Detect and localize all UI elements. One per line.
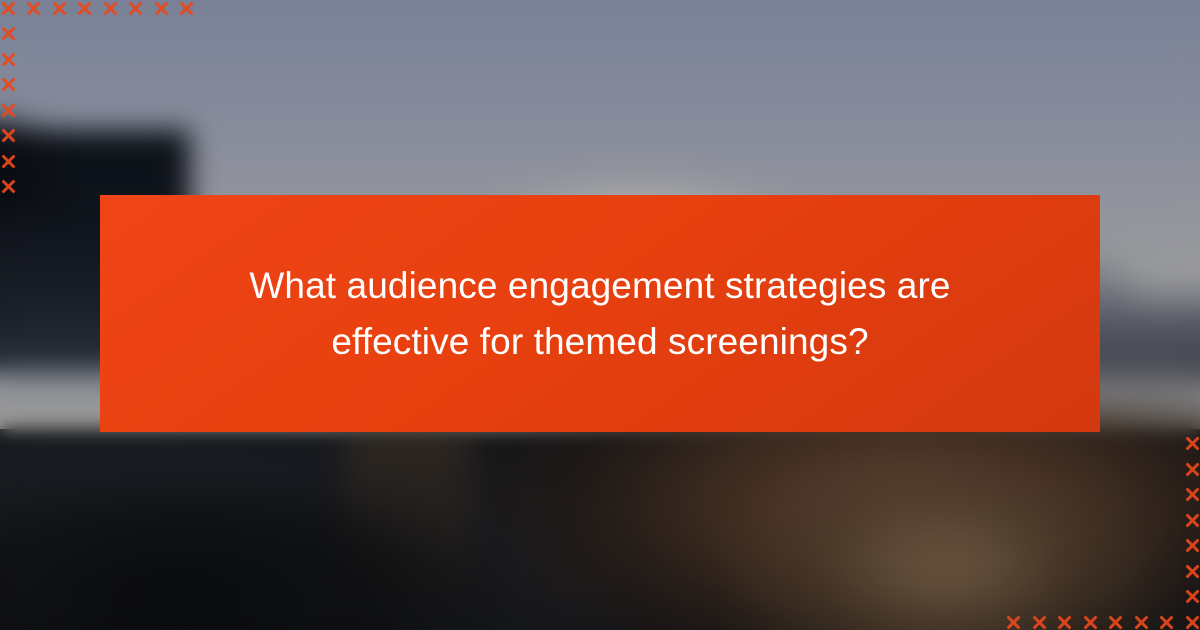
headline-panel: What audience engagement strategies are … [100,195,1100,432]
page-title: What audience engagement strategies are … [235,258,965,370]
social-share-card: What audience engagement strategies are … [0,0,1200,630]
